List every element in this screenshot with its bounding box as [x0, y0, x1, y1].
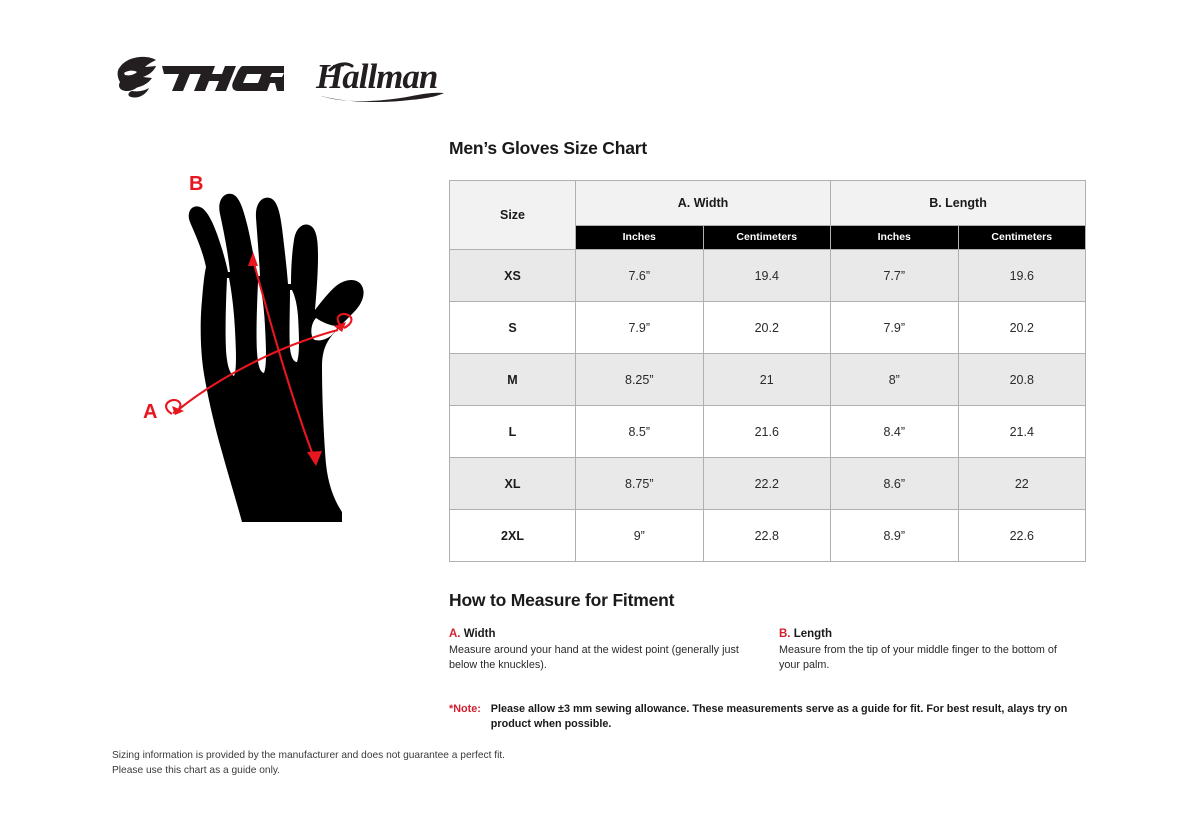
footer-line-2: Please use this chart as a guide only.: [112, 763, 505, 778]
cell-size: M: [450, 354, 576, 406]
thor-logo: [112, 53, 284, 108]
how-to-name-width: Width: [464, 628, 496, 640]
cell-size: XL: [450, 458, 576, 510]
table-row: M 8.25” 21 8” 20.8: [450, 354, 1086, 406]
how-to-description-length: Measure from the tip of your middle fing…: [779, 643, 1079, 672]
glove-silhouette: [189, 194, 364, 522]
cell-length-in: 8.4”: [831, 406, 959, 458]
how-to-label-width: A. Width: [449, 628, 779, 640]
cell-length-in: 8”: [831, 354, 959, 406]
size-chart-panel: Men’s Gloves Size Chart Size A. Width B.…: [449, 138, 1085, 732]
cell-size: L: [450, 406, 576, 458]
cell-size: 2XL: [450, 510, 576, 562]
table-row: 2XL 9” 22.8 8.9” 22.6: [450, 510, 1086, 562]
cell-length-in: 7.9”: [831, 302, 959, 354]
table-row: S 7.9” 20.2 7.9” 20.2: [450, 302, 1086, 354]
how-to-label-length: B. Length: [779, 628, 1085, 640]
footer-line-1: Sizing information is provided by the ma…: [112, 748, 505, 763]
svg-text:Hallman: Hallman: [315, 57, 437, 96]
cell-width-cm: 21: [703, 354, 831, 406]
cell-width-cm: 22.8: [703, 510, 831, 562]
glove-measurement-figure: B A: [110, 160, 440, 560]
column-header-width-centimeters: Centimeters: [703, 225, 831, 249]
cell-length-cm: 22: [958, 458, 1086, 510]
how-to-description-width: Measure around your hand at the widest p…: [449, 643, 749, 672]
cell-length-in: 8.9”: [831, 510, 959, 562]
cell-length-cm: 19.6: [958, 250, 1086, 302]
how-to-name-length: Length: [794, 628, 832, 640]
footer-disclaimer: Sizing information is provided by the ma…: [112, 748, 505, 779]
size-table-container: Size A. Width B. Length Inches Centimete…: [449, 180, 1085, 562]
column-header-length-centimeters: Centimeters: [958, 225, 1086, 249]
cell-length-in: 7.7”: [831, 250, 959, 302]
cell-length-cm: 20.2: [958, 302, 1086, 354]
page-title: Men’s Gloves Size Chart: [449, 138, 1085, 159]
cell-width-in: 8.5”: [576, 406, 704, 458]
how-to-letter-a: A.: [449, 628, 461, 640]
cell-size: S: [450, 302, 576, 354]
cell-width-cm: 20.2: [703, 302, 831, 354]
size-table-body: XS 7.6” 19.4 7.7” 19.6 S 7.9” 20.2 7.9” …: [450, 250, 1086, 562]
cell-width-in: 9”: [576, 510, 704, 562]
cell-width-in: 8.25”: [576, 354, 704, 406]
how-to-letter-b: B.: [779, 628, 791, 640]
how-to-measure-item-width: A. Width Measure around your hand at the…: [449, 628, 779, 672]
cell-length-in: 8.6”: [831, 458, 959, 510]
marker-a-label: A: [143, 401, 157, 423]
note-block: *Note: Please allow ±3 mm sewing allowan…: [449, 702, 1085, 732]
note-label: *Note:: [449, 702, 481, 732]
table-row: XS 7.6” 19.4 7.7” 19.6: [450, 250, 1086, 302]
how-to-measure-item-length: B. Length Measure from the tip of your m…: [779, 628, 1085, 672]
how-to-measure-title: How to Measure for Fitment: [449, 590, 1085, 611]
cell-width-in: 7.9”: [576, 302, 704, 354]
cell-length-cm: 21.4: [958, 406, 1086, 458]
table-row: XL 8.75” 22.2 8.6” 22: [450, 458, 1086, 510]
table-row: L 8.5” 21.6 8.4” 21.4: [450, 406, 1086, 458]
cell-size: XS: [450, 250, 576, 302]
how-to-measure-section: How to Measure for Fitment A. Width Meas…: [449, 590, 1085, 672]
cell-length-cm: 20.8: [958, 354, 1086, 406]
note-text: Please allow ±3 mm sewing allowance. The…: [491, 702, 1085, 732]
cell-width-cm: 22.2: [703, 458, 831, 510]
column-header-width-inches: Inches: [576, 225, 704, 249]
cell-width-cm: 19.4: [703, 250, 831, 302]
cell-length-cm: 22.6: [958, 510, 1086, 562]
cell-width-in: 7.6”: [576, 250, 704, 302]
column-group-header-length: B. Length: [831, 181, 1086, 226]
cell-width-in: 8.75”: [576, 458, 704, 510]
hallman-logo: Hallman: [312, 52, 452, 109]
brand-logo-bar: Hallman: [112, 50, 452, 110]
table-header-row-groups: Size A. Width B. Length: [450, 181, 1086, 226]
column-header-size: Size: [450, 181, 576, 250]
marker-b-label: B: [189, 173, 203, 195]
column-group-header-width: A. Width: [576, 181, 831, 226]
cell-width-cm: 21.6: [703, 406, 831, 458]
column-header-length-inches: Inches: [831, 225, 959, 249]
size-chart-table: Size A. Width B. Length Inches Centimete…: [449, 180, 1086, 562]
